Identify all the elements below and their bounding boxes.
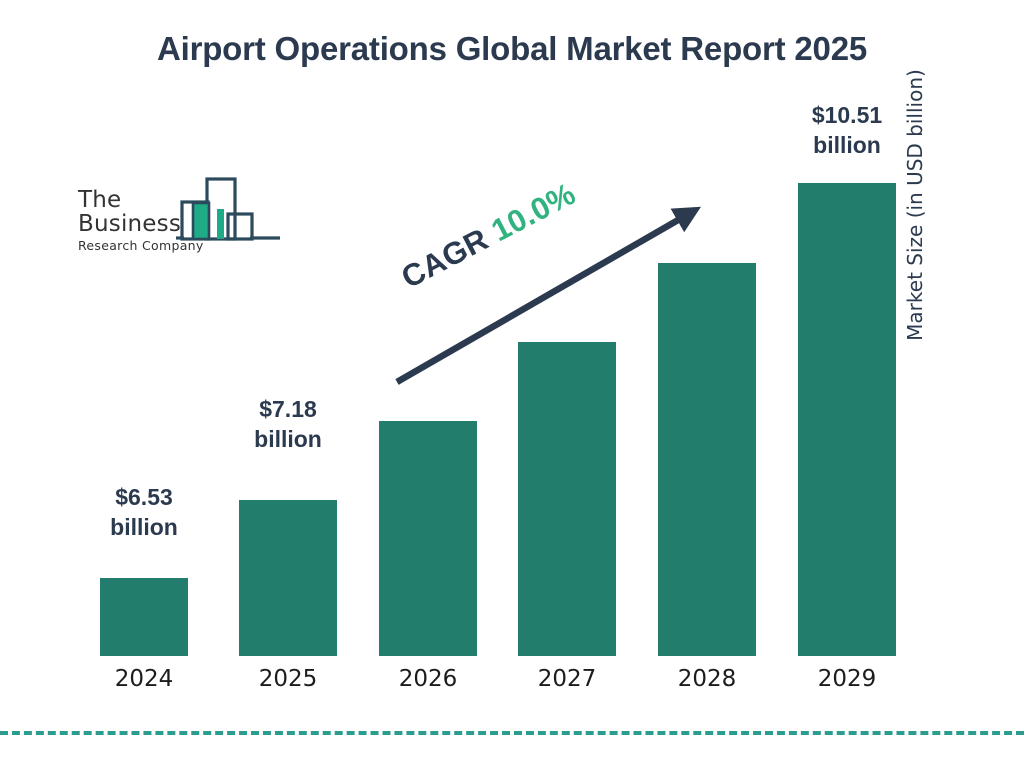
- y-axis-title: Market Size (in USD billion): [903, 40, 943, 370]
- bar-2026: [379, 421, 477, 656]
- bar-2027: [518, 342, 616, 656]
- x-tick-label-2025: 2025: [224, 666, 352, 692]
- cagr-annotation: CAGR 10.0%: [396, 176, 582, 296]
- bar-2029: [798, 183, 896, 656]
- chart-canvas: Airport Operations Global Market Report …: [0, 0, 1024, 768]
- bar-building-logo-mark: [176, 176, 284, 248]
- x-tick-label-2028: 2028: [643, 666, 771, 692]
- x-tick-label-2024: 2024: [80, 666, 208, 692]
- brand-logo: The Business Research Company: [78, 176, 283, 254]
- x-tick-label-2027: 2027: [503, 666, 631, 692]
- cagr-label: CAGR: [396, 221, 494, 295]
- bar-2028: [658, 263, 756, 656]
- footer-divider: [0, 731, 1024, 735]
- x-tick-label-2029: 2029: [783, 666, 911, 692]
- bar-2025: [239, 500, 337, 656]
- bar-2024: [100, 578, 188, 656]
- x-tick-label-2026: 2026: [364, 666, 492, 692]
- bar-value-label-2025: $7.18 billion: [224, 394, 352, 455]
- cagr-value: 10.0%: [486, 176, 581, 248]
- bar-value-label-2029: $10.51 billion: [783, 100, 911, 161]
- page-title: Airport Operations Global Market Report …: [96, 28, 928, 70]
- bar-value-label-2024: $6.53 billion: [80, 482, 208, 543]
